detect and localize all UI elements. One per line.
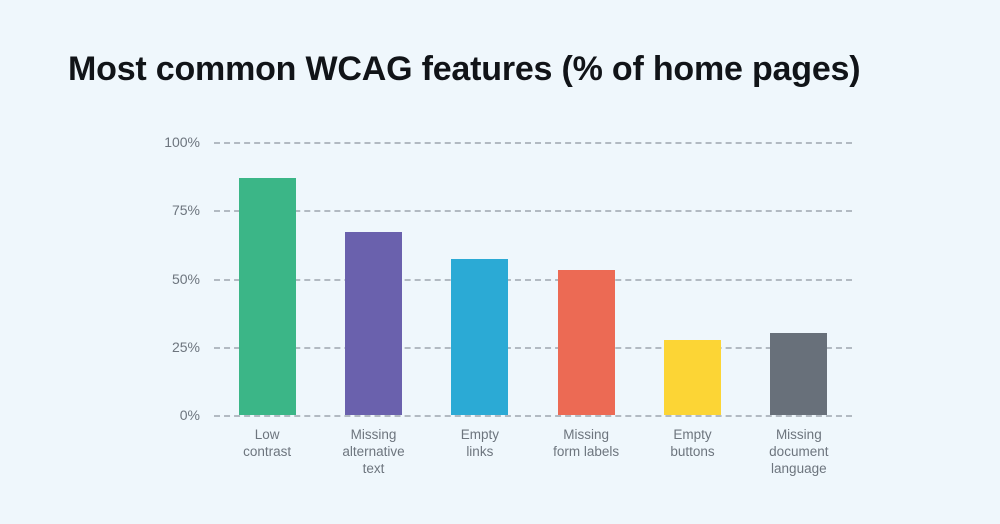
- bar[interactable]: [451, 259, 508, 415]
- x-tick-label: Emptybuttons: [638, 426, 748, 460]
- gridline-75pct: [214, 210, 852, 212]
- bar[interactable]: [558, 270, 615, 415]
- y-tick-label: 100%: [136, 134, 200, 150]
- y-tick-label: 25%: [136, 339, 200, 355]
- x-axis-tick-labels: LowcontrastMissingalternativetextEmptyli…: [214, 426, 852, 506]
- x-tick-label: Emptylinks: [425, 426, 535, 460]
- x-tick-label-line: Missing: [744, 426, 854, 443]
- bar[interactable]: [664, 340, 721, 415]
- x-tick-label-line: Missing: [319, 426, 429, 443]
- x-tick-label-line: text: [319, 460, 429, 477]
- x-tick-label: Missingform labels: [531, 426, 641, 460]
- y-axis-tick-labels: 0%25%50%75%100%: [130, 142, 200, 415]
- x-tick-label-line: language: [744, 460, 854, 477]
- y-tick-label: 0%: [136, 407, 200, 423]
- bar[interactable]: [345, 232, 402, 415]
- gridline-100pct: [214, 142, 852, 144]
- x-tick-label-line: contrast: [212, 443, 322, 460]
- bar[interactable]: [239, 178, 296, 416]
- x-tick-label-line: Empty: [425, 426, 535, 443]
- x-tick-label-line: buttons: [638, 443, 748, 460]
- bar[interactable]: [770, 333, 827, 415]
- x-tick-label: Missingalternativetext: [319, 426, 429, 477]
- x-tick-label-line: form labels: [531, 443, 641, 460]
- chart-title: Most common WCAG features (% of home pag…: [68, 48, 938, 90]
- plot-area: [214, 142, 852, 415]
- y-tick-label: 50%: [136, 271, 200, 287]
- x-tick-label-line: alternative: [319, 443, 429, 460]
- x-tick-label-line: document: [744, 443, 854, 460]
- gridline-50pct: [214, 279, 852, 281]
- y-tick-label: 75%: [136, 202, 200, 218]
- x-tick-label-line: links: [425, 443, 535, 460]
- x-tick-label: Lowcontrast: [212, 426, 322, 460]
- chart-figure: Most common WCAG features (% of home pag…: [0, 0, 1000, 524]
- gridline-25pct: [214, 347, 852, 349]
- x-tick-label-line: Missing: [531, 426, 641, 443]
- x-tick-label: Missingdocumentlanguage: [744, 426, 854, 477]
- x-tick-label-line: Low: [212, 426, 322, 443]
- gridline-0pct: [214, 415, 852, 417]
- x-tick-label-line: Empty: [638, 426, 748, 443]
